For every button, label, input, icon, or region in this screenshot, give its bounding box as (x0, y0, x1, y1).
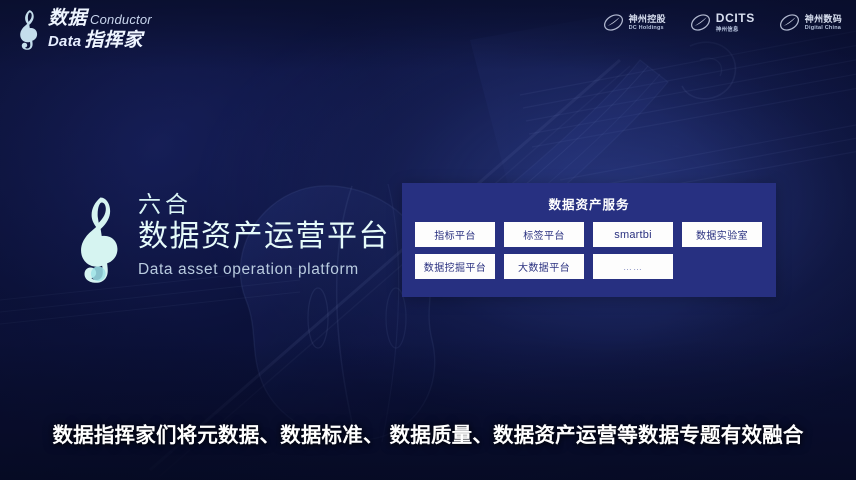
platform-title-text: 六合 数据资产运营平台 Data asset operation platfor… (138, 186, 390, 279)
partner-cn-label: DCITS (716, 12, 755, 26)
partner-cn-label: 神州数码 (805, 14, 842, 24)
platform-title-en: Data asset operation platform (138, 261, 390, 279)
platform-name-cn: 六合 (138, 192, 390, 216)
brand-cn-1: 数据 (48, 9, 87, 28)
platform-title-block: 六合 数据资产运营平台 Data asset operation platfor… (72, 186, 390, 288)
service-tile-more[interactable]: …… (593, 254, 673, 279)
partner-en-label: 神州信息 (716, 27, 755, 33)
services-tile-row: 数据挖掘平台 大数据平台 …… (415, 254, 763, 279)
partner-text-dc-holdings: 神州控股 DC Holdings (629, 14, 666, 32)
service-tile-shuju-shiyanshi[interactable]: 数据实验室 (682, 222, 762, 247)
service-tile-smartbi[interactable]: smartbi (593, 222, 673, 247)
partner-logo-dc-holdings: 神州控股 DC Holdings (603, 12, 666, 33)
partner-cn-label: 神州控股 (629, 14, 666, 24)
service-tile-biaoqian-pingtai[interactable]: 标签平台 (504, 222, 584, 247)
data-asset-services-panel: 数据资产服务 指标平台 标签平台 smartbi 数据实验室 数据挖掘平台 大数… (402, 183, 776, 297)
brand-cn-2: 指挥家 (84, 31, 143, 50)
service-tile-dashuju-pingtai[interactable]: 大数据平台 (504, 254, 584, 279)
treble-clef-icon (16, 7, 42, 51)
treble-clef-icon (72, 188, 128, 288)
partner-logo-group: 神州控股 DC Holdings DCITS 神州信息 神州数码 Digital… (603, 12, 842, 33)
partner-logo-dcits: DCITS 神州信息 (690, 12, 755, 33)
brand-line-1: 数据 Conductor (48, 9, 152, 28)
brand-logo: 数据 Conductor Data 指挥家 (16, 6, 152, 52)
services-tile-grid: 指标平台 标签平台 smartbi 数据实验室 数据挖掘平台 大数据平台 …… (402, 213, 776, 279)
slide-caption: 数据指挥家们将元数据、数据标准、 数据质量、数据资产运营等数据专题有效融合 (0, 418, 856, 448)
brand-line-2: Data 指挥家 (48, 31, 152, 50)
brand-en-2: Data (48, 34, 81, 49)
brand-wordmark: 数据 Conductor Data 指挥家 (48, 9, 152, 50)
partner-en-label: Digital China (805, 25, 842, 31)
presentation-slide: 数据 Conductor Data 指挥家 神州控股 DC Holdings (0, 0, 856, 480)
swoosh-logo-icon (779, 12, 800, 33)
brand-en-1: Conductor (90, 13, 152, 26)
partner-logo-digital-china: 神州数码 Digital China (779, 12, 842, 33)
services-tile-row: 指标平台 标签平台 smartbi 数据实验室 (415, 222, 763, 247)
swoosh-logo-icon (603, 12, 624, 33)
service-tile-zhibiao-pingtai[interactable]: 指标平台 (415, 222, 495, 247)
platform-title-cn: 数据资产运营平台 (138, 219, 390, 256)
service-tile-shuju-wajue-pingtai[interactable]: 数据挖掘平台 (415, 254, 495, 279)
partner-text-digital-china: 神州数码 Digital China (805, 14, 842, 32)
swoosh-logo-icon (690, 12, 711, 33)
services-panel-title: 数据资产服务 (402, 183, 776, 213)
partner-text-dcits: DCITS 神州信息 (716, 12, 755, 33)
partner-en-label: DC Holdings (629, 25, 666, 31)
